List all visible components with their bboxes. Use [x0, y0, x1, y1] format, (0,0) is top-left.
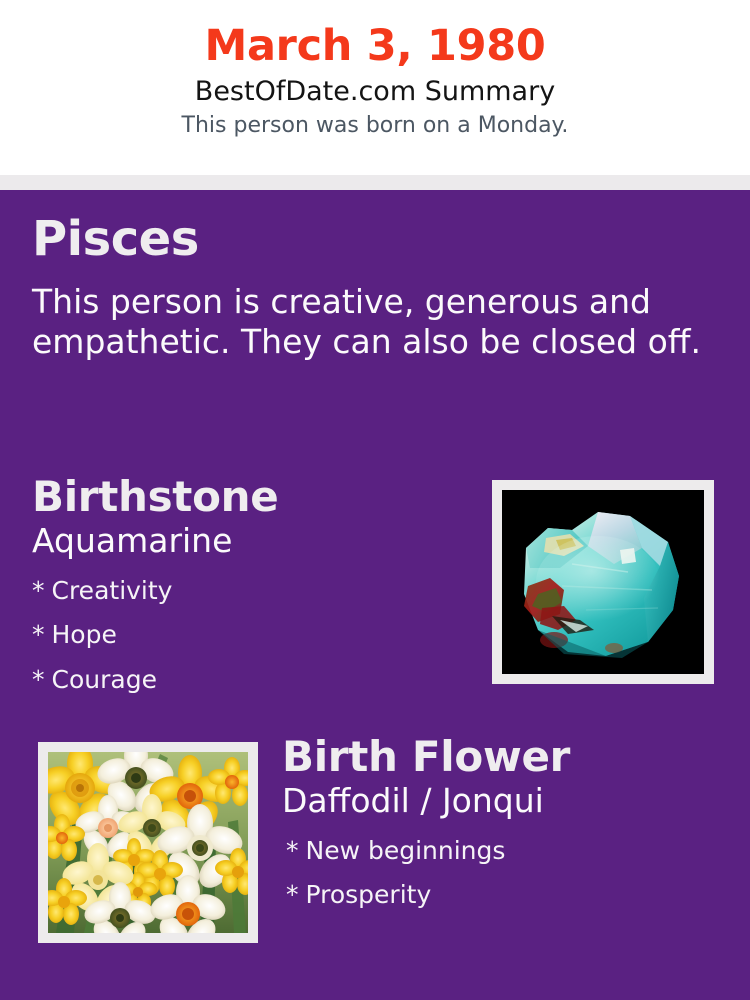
asterisk-icon: *	[32, 658, 45, 703]
birth-flower-trait-label: New beginnings	[306, 836, 506, 865]
details-panel: Pisces This person is creative, generous…	[0, 190, 750, 1000]
asterisk-icon: *	[286, 829, 299, 874]
asterisk-icon: *	[32, 569, 45, 614]
page-title-date: March 3, 1980	[0, 22, 750, 70]
header-divider	[0, 175, 750, 190]
birth-flower-section: Birth Flower Daffodil / Jonqui *New begi…	[282, 735, 722, 918]
birthstone-section: Birthstone Aquamarine *Creativity *Hope …	[32, 475, 472, 702]
list-item: *Hope	[32, 613, 472, 658]
aquamarine-crystal-icon	[502, 490, 704, 674]
birth-flower-title: Birth Flower	[282, 735, 722, 780]
header: March 3, 1980 BestOfDate.com Summary Thi…	[0, 0, 750, 175]
birth-flower-image	[48, 752, 248, 933]
birthstone-trait-label: Creativity	[52, 576, 173, 605]
summary-card: March 3, 1980 BestOfDate.com Summary Thi…	[0, 0, 750, 1000]
birth-flower-image-frame	[38, 742, 258, 943]
zodiac-description: This person is creative, generous and em…	[32, 282, 704, 363]
birthstone-trait-list: *Creativity *Hope *Courage	[32, 569, 472, 703]
birth-flower-trait-label: Prosperity	[306, 880, 432, 909]
birth-flower-name: Daffodil / Jonqui	[282, 782, 722, 821]
zodiac-sign-title: Pisces	[32, 214, 199, 264]
birthstone-trait-label: Hope	[52, 620, 117, 649]
list-item: *Courage	[32, 658, 472, 703]
list-item: *Prosperity	[282, 873, 722, 918]
birth-day-note: This person was born on a Monday.	[0, 113, 750, 139]
asterisk-icon: *	[32, 613, 45, 658]
daffodil-flowers-icon	[48, 752, 248, 933]
site-summary-label: BestOfDate.com Summary	[0, 76, 750, 108]
list-item: *New beginnings	[282, 829, 722, 874]
birthstone-image-frame	[492, 480, 714, 684]
asterisk-icon: *	[286, 873, 299, 918]
birthstone-title: Birthstone	[32, 475, 472, 520]
birthstone-name: Aquamarine	[32, 522, 472, 561]
birthstone-trait-label: Courage	[52, 665, 157, 694]
birthstone-image	[502, 490, 704, 674]
list-item: *Creativity	[32, 569, 472, 614]
birth-flower-trait-list: *New beginnings *Prosperity	[282, 829, 722, 918]
